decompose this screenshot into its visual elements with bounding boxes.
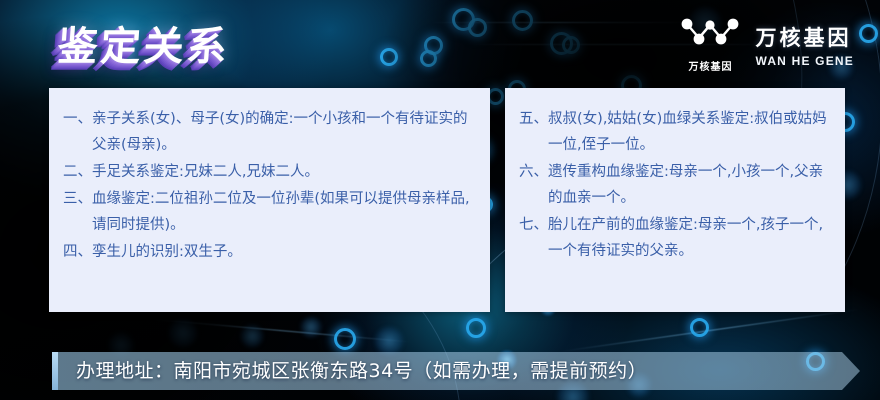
- list-item: 六、 遗传重构血缘鉴定:母亲一个,小孩一个,父亲的血亲一个。: [519, 159, 831, 211]
- brand-logo: 万核基因 万核基因 WAN HE GENE: [679, 16, 854, 73]
- molecule-node-icon: [679, 16, 741, 55]
- list-item-number: 五、: [519, 106, 548, 158]
- list-item-text: 手足关系鉴定:兄妹二人,兄妹二人。: [92, 159, 476, 185]
- list-item-text: 血缘鉴定:二位祖孙二位及一位孙辈(如果可以提供母亲样品,请同时提供)。: [92, 186, 476, 238]
- list-item-number: 六、: [519, 159, 548, 211]
- list-item: 五、 叔叔(女),姑姑(女)血绿关系鉴定:叔伯或姑妈一位,侄子一位。: [519, 106, 831, 158]
- brand-name-cn: 万核基因: [755, 22, 854, 52]
- list-item: 四、 孪生儿的识别:双生子。: [63, 239, 476, 265]
- brand-mark-caption: 万核基因: [688, 58, 732, 73]
- list-item: 七、 胎儿在产前的血缘鉴定:母亲一个,孩子一个,一个有待证实的父亲。: [519, 212, 831, 264]
- list-item-text: 孪生儿的识别:双生子。: [92, 239, 476, 265]
- poster-canvas: 鉴定关系: [0, 0, 880, 400]
- list-item: 二、 手足关系鉴定:兄妹二人,兄妹二人。: [63, 159, 476, 185]
- relations-panel-right: 五、 叔叔(女),姑姑(女)血绿关系鉴定:叔伯或姑妈一位,侄子一位。 六、 遗传…: [505, 88, 845, 312]
- address-banner: 办理地址：南阳市宛城区张衡东路34号（如需办理，需提前预约）: [52, 352, 860, 390]
- relations-list-left: 一、 亲子关系(女)、母子(女)的确定:一个小孩和一个有待证实的父亲(母亲)。 …: [49, 88, 490, 265]
- list-item-text: 胎儿在产前的血缘鉴定:母亲一个,孩子一个,一个有待证实的父亲。: [548, 212, 831, 264]
- list-item: 三、 血缘鉴定:二位祖孙二位及一位孙辈(如果可以提供母亲样品,请同时提供)。: [63, 186, 476, 238]
- address-banner-accent: [52, 352, 58, 390]
- list-item-number: 三、: [63, 186, 92, 238]
- brand-text: 万核基因 WAN HE GENE: [755, 22, 854, 68]
- address-text: 办理地址：南阳市宛城区张衡东路34号（如需办理，需提前预约）: [76, 352, 647, 390]
- list-item-number: 四、: [63, 239, 92, 265]
- list-item-number: 二、: [63, 159, 92, 185]
- list-item-number: 一、: [63, 106, 92, 158]
- relations-list-right: 五、 叔叔(女),姑姑(女)血绿关系鉴定:叔伯或姑妈一位,侄子一位。 六、 遗传…: [505, 88, 845, 264]
- page-title: 鉴定关系: [56, 14, 232, 72]
- brand-name-en: WAN HE GENE: [755, 54, 854, 68]
- relations-panel-left: 一、 亲子关系(女)、母子(女)的确定:一个小孩和一个有待证实的父亲(母亲)。 …: [49, 88, 490, 312]
- list-item-text: 叔叔(女),姑姑(女)血绿关系鉴定:叔伯或姑妈一位,侄子一位。: [548, 106, 831, 158]
- list-item-text: 亲子关系(女)、母子(女)的确定:一个小孩和一个有待证实的父亲(母亲)。: [92, 106, 476, 158]
- list-item-text: 遗传重构血缘鉴定:母亲一个,小孩一个,父亲的血亲一个。: [548, 159, 831, 211]
- brand-mark: 万核基因: [679, 16, 741, 73]
- list-item: 一、 亲子关系(女)、母子(女)的确定:一个小孩和一个有待证实的父亲(母亲)。: [63, 106, 476, 158]
- list-item-number: 七、: [519, 212, 548, 264]
